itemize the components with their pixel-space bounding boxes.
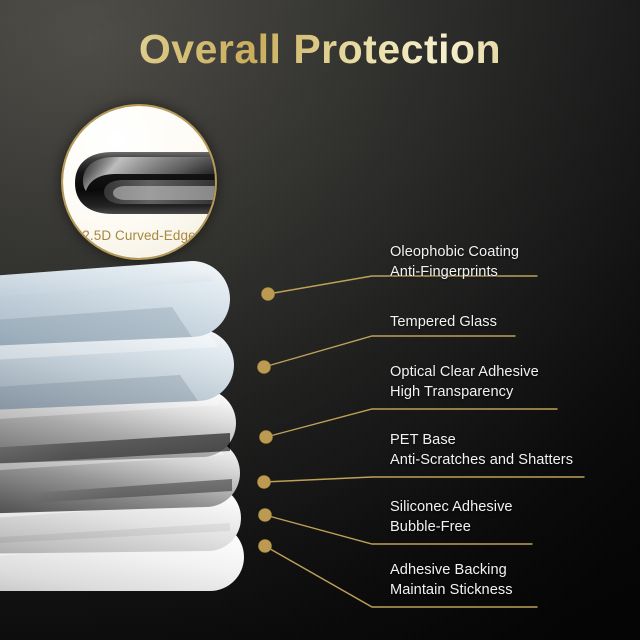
callout-line2: Anti-Scratches and Shatters	[390, 450, 573, 470]
callout-adhesive-backing: Adhesive Backing Maintain Stickness	[390, 560, 513, 600]
layer-stack-illustration	[0, 255, 350, 595]
product-infographic: Overall Protection	[0, 0, 640, 640]
callout-siliconec-adhesive: Siliconec Adhesive Bubble-Free	[390, 497, 513, 537]
callout-oleophobic-coating: Oleophobic Coating Anti-Fingerprints	[390, 242, 519, 282]
callout-line2: Maintain Stickness	[390, 580, 513, 600]
callout-line2: Anti-Fingerprints	[390, 262, 519, 282]
callout-line1: Tempered Glass	[390, 314, 497, 330]
curved-edge-illustration	[69, 150, 215, 216]
callout-line1: Adhesive Backing	[390, 562, 507, 578]
callout-line1: Optical Clear Adhesive	[390, 364, 539, 380]
callout-line1: PET Base	[390, 432, 456, 448]
callout-tempered-glass: Tempered Glass	[390, 312, 497, 332]
curved-edge-inset: 2.5D Curved-Edge	[63, 106, 215, 258]
page-title: Overall Protection	[0, 24, 640, 75]
callout-optical-clear-adhesive: Optical Clear Adhesive High Transparency	[390, 362, 539, 402]
callout-pet-base: PET Base Anti-Scratches and Shatters	[390, 430, 573, 470]
callout-line1: Siliconec Adhesive	[390, 499, 513, 515]
callout-line2: High Transparency	[390, 382, 539, 402]
callout-line1: Oleophobic Coating	[390, 244, 519, 260]
callout-line2: Bubble-Free	[390, 517, 513, 537]
inset-caption: 2.5D Curved-Edge	[63, 228, 215, 243]
